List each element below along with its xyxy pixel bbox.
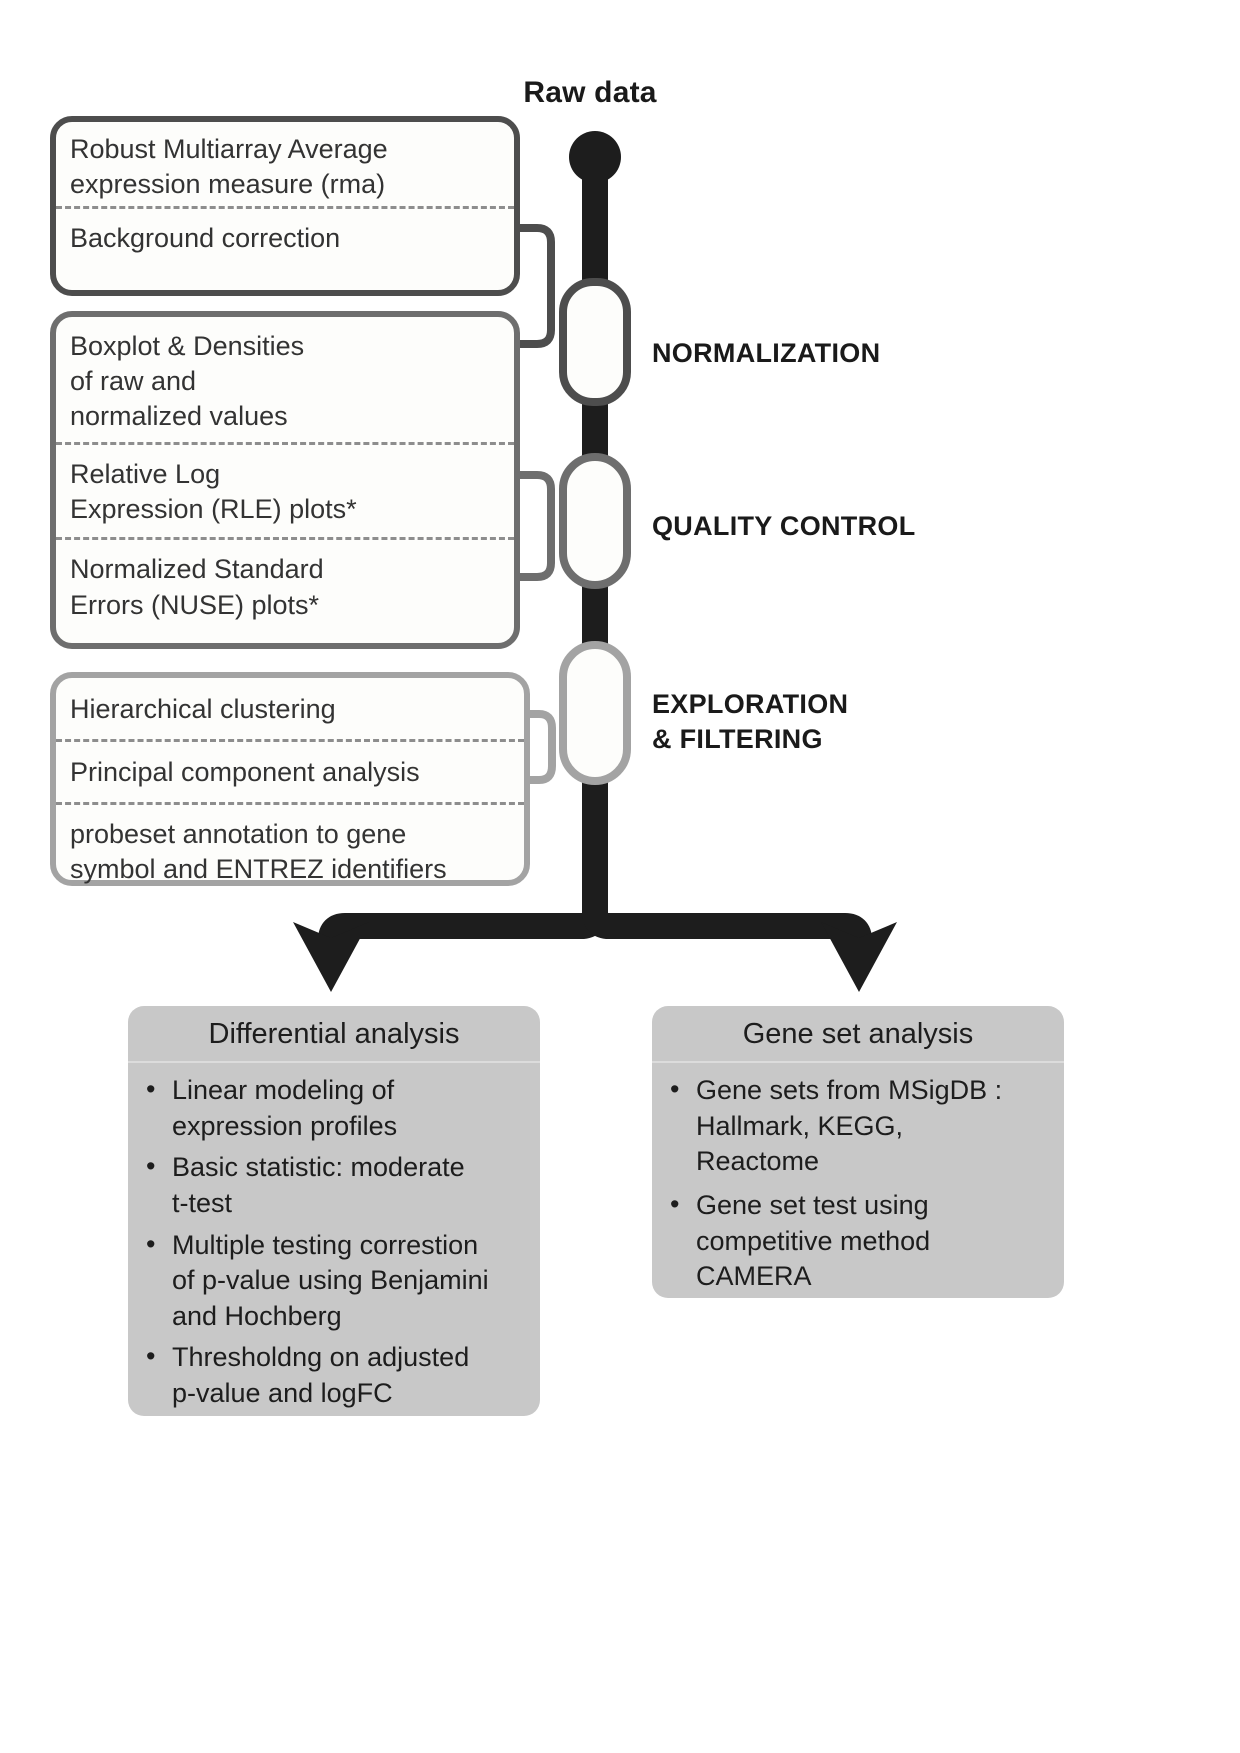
stage-capsule-quality: [563, 457, 627, 585]
list-item: Linear modeling of expression profiles: [142, 1073, 526, 1144]
stage-panel-normalization[interactable]: Robust Multiarray Average expression mea…: [50, 116, 520, 296]
connector-normalization: [520, 228, 551, 344]
card-title: Differential analysis: [128, 1006, 540, 1063]
stage-panel-quality-control[interactable]: Boxplot & Densities of raw and normalize…: [50, 311, 520, 649]
output-card-gene-set-analysis[interactable]: Gene set analysis Gene sets from MSigDB …: [652, 1006, 1064, 1298]
stage-row: Principal component analysis: [56, 739, 524, 802]
stage-row: Background correction: [56, 206, 514, 270]
stage-row: Normalized Standard Errors (NUSE) plots*: [56, 537, 514, 634]
stage-row: Hierarchical clustering: [56, 678, 524, 739]
stage-row: Relative Log Expression (RLE) plots*: [56, 442, 514, 537]
card-bullet-list: Linear modeling of expression profiles B…: [128, 1063, 540, 1416]
stage-label-normalization: NORMALIZATION: [652, 336, 880, 371]
stage-label-quality-control: QUALITY CONTROL: [652, 509, 916, 544]
main-spine: [569, 131, 621, 915]
connector-exploration: [530, 714, 552, 780]
stage-row: Robust Multiarray Average expression mea…: [56, 122, 514, 206]
output-card-differential-analysis[interactable]: Differential analysis Linear modeling of…: [128, 1006, 540, 1416]
stage-label-exploration-filtering: EXPLORATION & FILTERING: [652, 687, 848, 756]
connector-quality: [520, 475, 551, 577]
stage-capsule-normalization: [563, 282, 627, 402]
stage-panel-exploration-filtering[interactable]: Hierarchical clustering Principal compon…: [50, 672, 530, 886]
card-title: Gene set analysis: [652, 1006, 1064, 1063]
arrowhead-left: [293, 922, 369, 992]
list-item: Gene set test using competitive method C…: [666, 1188, 1050, 1295]
raw-data-node: [569, 131, 621, 183]
spine-segment-3: [582, 582, 608, 650]
stage-row: Boxplot & Densities of raw and normalize…: [56, 317, 514, 442]
card-bullet-list: Gene sets from MSigDB : Hallmark, KEGG, …: [652, 1063, 1064, 1298]
list-item: Thresholdng on adjusted p-value and logF…: [142, 1340, 526, 1411]
stage-capsule-exploration: [563, 645, 627, 781]
spine-segment-1: [582, 157, 608, 307]
list-item: Multiple testing correstion of p-value u…: [142, 1228, 526, 1335]
spine-segment-2: [582, 395, 608, 465]
page-title: Raw data: [460, 76, 720, 110]
spine-segment-4: [582, 775, 608, 915]
list-item: Gene sets from MSigDB : Hallmark, KEGG, …: [666, 1073, 1050, 1180]
workflow-diagram: Raw data Robust Multiarray Average expre…: [0, 0, 1240, 1753]
list-item: Basic statistic: moderate t-test: [142, 1150, 526, 1221]
stage-row: probeset annotation to gene symbol and E…: [56, 802, 524, 897]
branch-fork: [293, 900, 897, 992]
arrowhead-right: [821, 922, 897, 992]
